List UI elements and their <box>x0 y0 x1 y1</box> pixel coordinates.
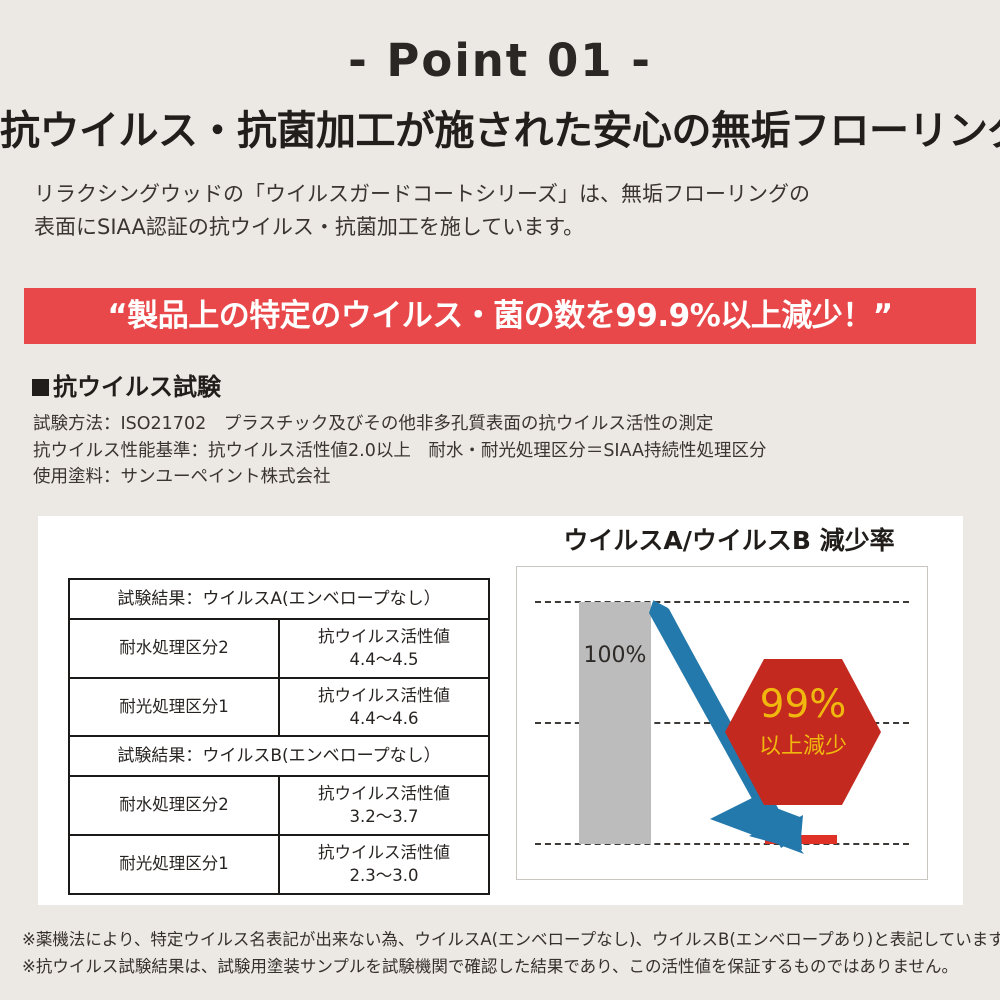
row-value: 抗ウイルス活性値 4.4〜4.6 <box>279 678 489 737</box>
footnotes: ※薬機法により、特定ウイルス名表記が出来ない為、ウイルスA(エンベロープなし)、… <box>22 927 987 980</box>
row-value: 抗ウイルス活性値 4.4〜4.5 <box>279 619 489 678</box>
footnote-2: ※抗ウイルス試験結果は、試験用塗装サンプルを試験機関で確認した結果であり、この活… <box>22 954 987 981</box>
row-label: 耐水処理区分2 <box>69 619 279 678</box>
metric-value: 2.3〜3.0 <box>280 865 488 887</box>
hexagon-shape-icon <box>725 659 881 805</box>
lead-line-2: 表面にSIAA認証の抗ウイルス・抗菌加工を施しています。 <box>34 211 974 244</box>
section-heading-antiviral-test: 抗ウイルス試験 <box>32 375 221 399</box>
badge-subtext: 以上減少 <box>725 736 881 758</box>
footnote-1: ※薬機法により、特定ウイルス名表記が出来ない為、ウイルスA(エンベロープなし)、… <box>22 927 987 954</box>
table-header-cell: 試験結果：ウイルスA(エンベロープなし） <box>69 579 489 619</box>
table-row: 耐水処理区分2 抗ウイルス活性値 4.4〜4.5 <box>69 619 489 678</box>
metric-name: 抗ウイルス活性値 <box>280 685 488 707</box>
row-value: 抗ウイルス活性値 2.3〜3.0 <box>279 835 489 894</box>
chart-title: ウイルスA/ウイルスB 減少率 <box>519 528 939 553</box>
metric-value: 4.4〜4.6 <box>280 708 488 730</box>
table-header-cell: 試験結果：ウイルスB(エンベロープなし） <box>69 736 489 776</box>
banner-text: “製品上の特定のウイルス・菌の数を99.9%以上減少！” <box>107 301 892 332</box>
metric-value: 3.2〜3.7 <box>280 806 488 828</box>
table-row: 耐光処理区分1 抗ウイルス活性値 4.4〜4.6 <box>69 678 489 737</box>
table-row: 試験結果：ウイルスB(エンベロープなし） <box>69 736 489 776</box>
page-title: 抗ウイルス・抗菌加工が施された安心の無垢フローリング <box>0 108 1000 154</box>
row-label: 耐水処理区分2 <box>69 776 279 835</box>
section-heading-label: 抗ウイルス試験 <box>53 373 221 401</box>
table-row: 耐水処理区分2 抗ウイルス活性値 3.2〜3.7 <box>69 776 489 835</box>
metric-value: 4.4〜4.5 <box>280 649 488 671</box>
test-method-line: 試験方法：ISO21702 プラスチック及びその他非多孔質表面の抗ウイルス活性の… <box>33 411 963 438</box>
lead-paragraph: リラクシングウッドの「ウイルスガードコートシリーズ」は、無垢フローリングの 表面… <box>34 178 974 243</box>
table-row: 耐光処理区分1 抗ウイルス活性値 2.3〜3.0 <box>69 835 489 894</box>
point-label: - Point 01 - <box>0 38 1000 83</box>
highlight-banner: “製品上の特定のウイルス・菌の数を99.9%以上減少！” <box>24 288 976 344</box>
table-row: 試験結果：ウイルスA(エンベロープなし） <box>69 579 489 619</box>
test-coating-line: 使用塗料：サンユーペイント株式会社 <box>33 464 963 491</box>
row-label: 耐光処理区分1 <box>69 678 279 737</box>
square-bullet-icon <box>32 379 49 396</box>
metric-name: 抗ウイルス活性値 <box>280 783 488 805</box>
test-info-block: 試験方法：ISO21702 プラスチック及びその他非多孔質表面の抗ウイルス活性の… <box>33 411 963 491</box>
results-panel: 試験結果：ウイルスA(エンベロープなし） 耐水処理区分2 抗ウイルス活性値 4.… <box>38 516 963 905</box>
metric-name: 抗ウイルス活性値 <box>280 626 488 648</box>
results-table-virus-b: 試験結果：ウイルスB(エンベロープなし） 耐水処理区分2 抗ウイルス活性値 3.… <box>68 735 490 895</box>
reduction-rate-chart: 100% 99% 以上減少 <box>516 566 928 880</box>
test-standard-line: 抗ウイルス性能基準：抗ウイルス活性値2.0以上 耐水・耐光処理区分＝SIAA持続… <box>33 438 963 465</box>
row-label: 耐光処理区分1 <box>69 835 279 894</box>
badge-percent: 99% <box>725 685 881 724</box>
row-value: 抗ウイルス活性値 3.2〜3.7 <box>279 776 489 835</box>
metric-name: 抗ウイルス活性値 <box>280 842 488 864</box>
reduction-badge: 99% 以上減少 <box>725 659 881 805</box>
results-table-virus-a: 試験結果：ウイルスA(エンベロープなし） 耐水処理区分2 抗ウイルス活性値 4.… <box>68 578 490 738</box>
lead-line-1: リラクシングウッドの「ウイルスガードコートシリーズ」は、無垢フローリングの <box>34 178 974 211</box>
